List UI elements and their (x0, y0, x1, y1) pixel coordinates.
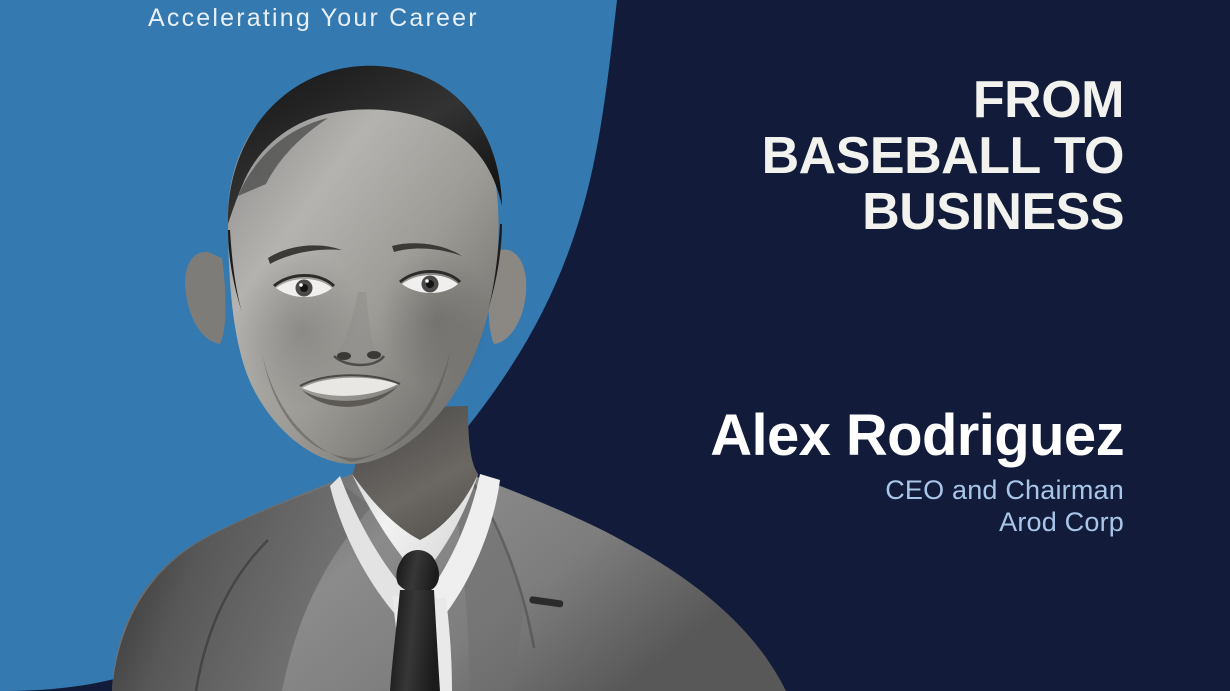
slide-eyebrow-text: Accelerating Your Career (148, 1, 479, 35)
speaker-organization: Arod Corp (564, 506, 1124, 538)
headline-line-2: BASEBALL TO (564, 128, 1124, 184)
speaker-name: Alex Rodriguez (564, 405, 1124, 467)
headline-block: FROM BASEBALL TO BUSINESS (564, 72, 1124, 240)
headline-line-3: BUSINESS (564, 184, 1124, 240)
headline-line-1: FROM (564, 72, 1124, 128)
speaker-block: Alex Rodriguez CEO and Chairman Arod Cor… (564, 405, 1124, 538)
speaker-role: CEO and Chairman (564, 474, 1124, 506)
presentation-slide: Accelerating Your Career FROM BASEBALL T… (0, 0, 1230, 691)
